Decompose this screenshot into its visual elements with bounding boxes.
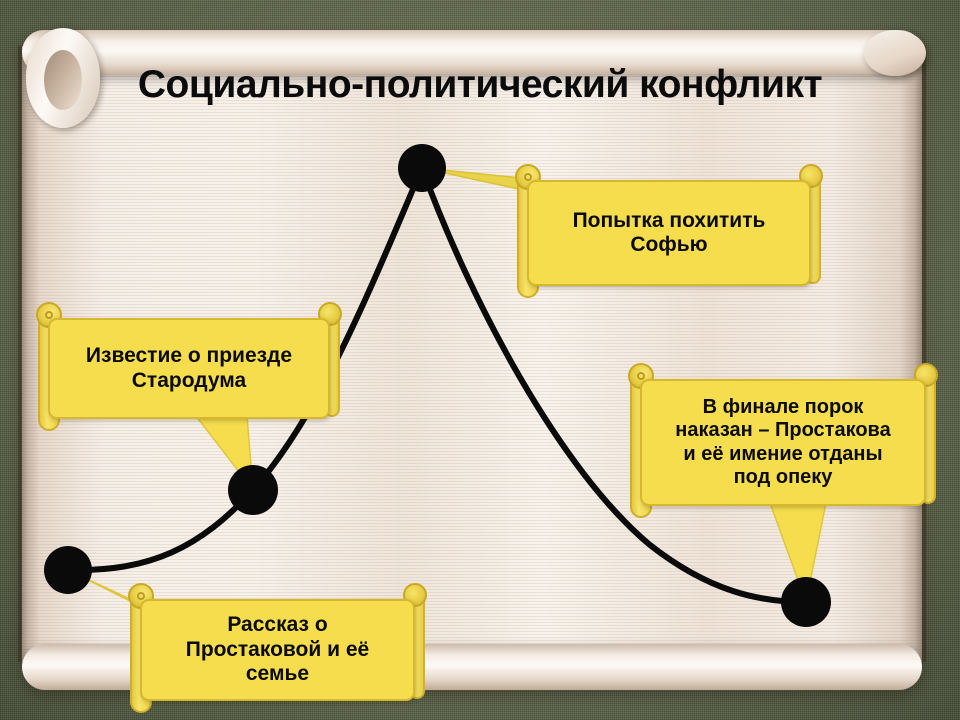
callout-line: наказан – Простакова — [675, 419, 890, 442]
callout-line: Рассказ о — [186, 613, 369, 637]
callout-attempt-to-kidnap-sofya[interactable]: Попытка похитить Софью — [509, 180, 829, 286]
callout-news-of-starodums-arrival[interactable]: Известие о приезде Стародума — [30, 318, 348, 419]
event-node-2[interactable] — [228, 465, 278, 515]
callout-line: В финале порок — [675, 396, 890, 419]
callout-line: Простаковой и её — [186, 638, 369, 662]
callout-story-of-prostakova-family[interactable]: Рассказ о Простаковой и её семье — [122, 599, 433, 701]
callout-line: и её имение отданы — [675, 443, 890, 466]
callout-line: Стародума — [86, 369, 292, 393]
event-node-4[interactable] — [781, 577, 831, 627]
callout-text: В финале порок наказан – Простакова и её… — [640, 379, 926, 506]
slide-canvas: Социально-политический конфликт Попытка … — [0, 0, 960, 720]
event-node-1[interactable] — [44, 546, 92, 594]
callout-line: семье — [186, 662, 369, 686]
callout-vice-punished-in-finale[interactable]: В финале порок наказан – Простакова и её… — [622, 379, 944, 506]
callout-line: Софью — [573, 233, 766, 257]
callout-line: Известие о приезде — [86, 344, 292, 368]
callout-text: Попытка похитить Софью — [527, 180, 811, 286]
event-node-3[interactable] — [398, 144, 446, 192]
callout-line: Попытка похитить — [573, 209, 766, 233]
callout-line: под опеку — [675, 466, 890, 489]
callout-text: Рассказ о Простаковой и её семье — [140, 599, 415, 701]
callout-text: Известие о приезде Стародума — [48, 318, 330, 419]
